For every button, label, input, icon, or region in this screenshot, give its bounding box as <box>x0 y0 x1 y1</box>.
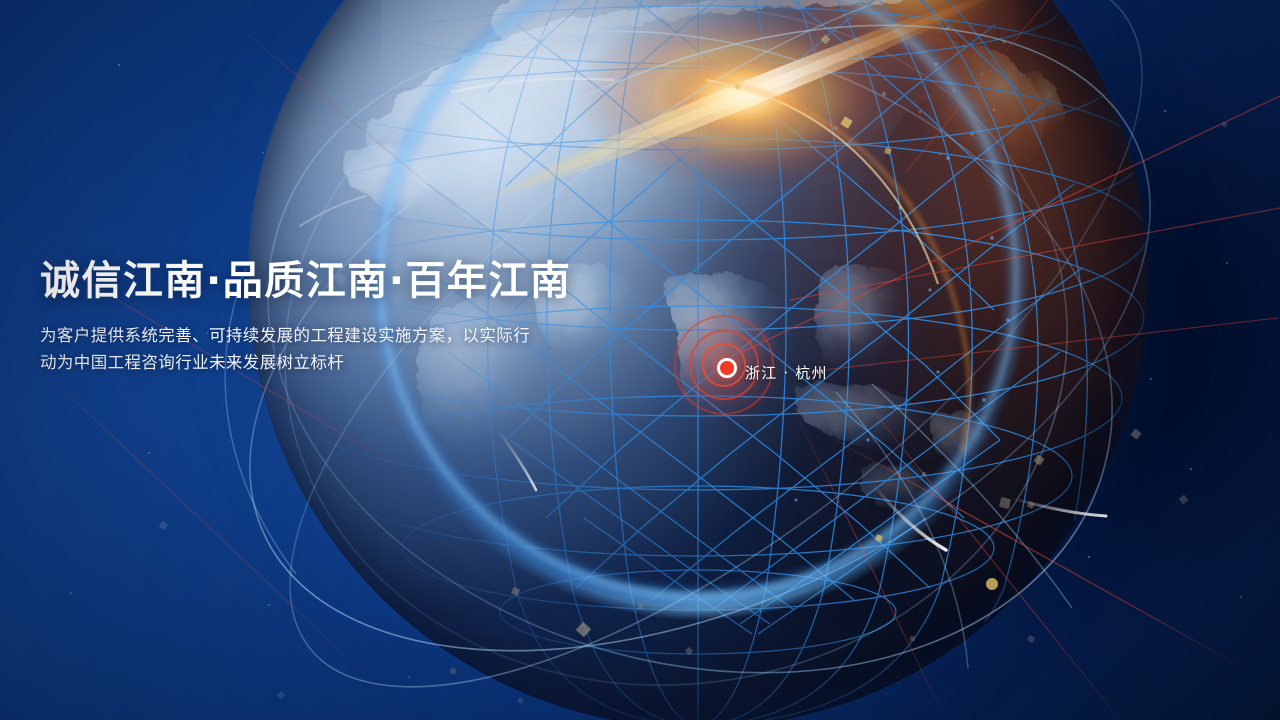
hero-subtitle: 为客户提供系统完善、可持续发展的工程建设实施方案，以实际行 动为中国工程咨询行业… <box>40 323 630 376</box>
hero-copy: 诚信江南·品质江南·百年江南 为客户提供系统完善、可持续发展的工程建设实施方案，… <box>40 258 660 377</box>
hero-subtitle-line-2: 动为中国工程咨询行业未来发展树立标杆 <box>40 350 630 377</box>
hero-banner: 浙江 · 杭州 诚信江南·品质江南·百年江南 为客户提供系统完善、可持续发展的工… <box>0 0 1280 720</box>
hero-subtitle-line-1: 为客户提供系统完善、可持续发展的工程建设实施方案，以实际行 <box>40 323 630 350</box>
marker-label: 浙江 · 杭州 <box>745 362 828 383</box>
page-title: 诚信江南·品质江南·百年江南 <box>40 258 660 305</box>
